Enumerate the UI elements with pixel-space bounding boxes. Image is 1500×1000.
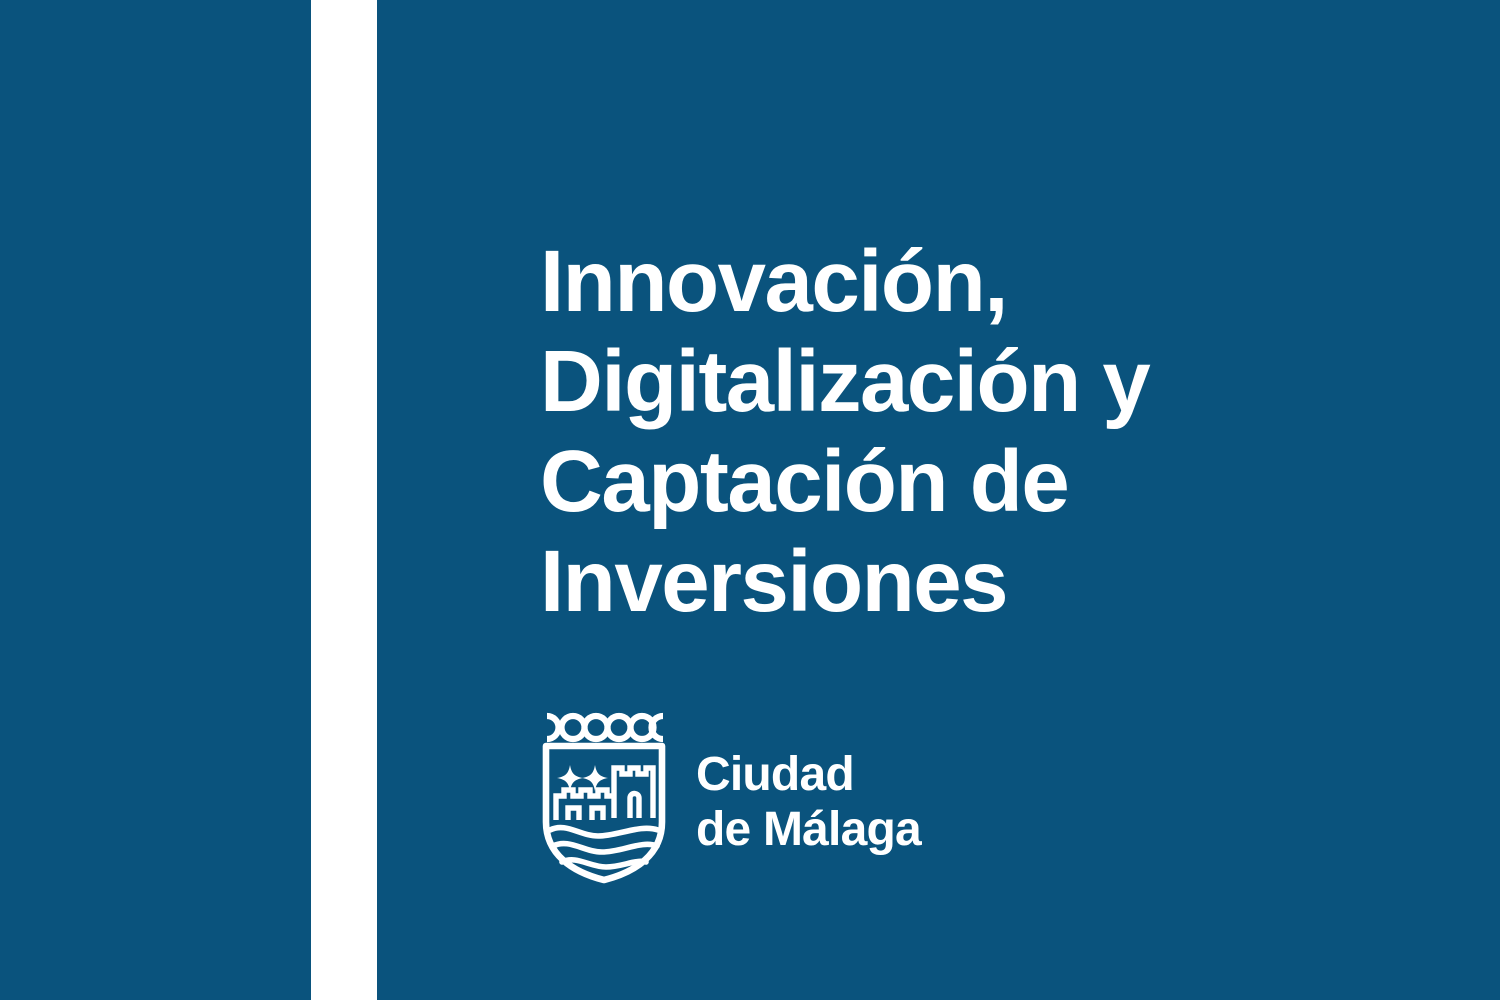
brand-logo-text-line-2: de Málaga [696,802,921,857]
brand-logo-text: Ciudad de Málaga [696,712,921,857]
malaga-city-shield-icon [540,712,668,884]
brand-logo-text-line-1: Ciudad [696,747,921,802]
title-line-4: Inversiones [540,532,1300,632]
page-title: Innovación, Digitalización y Captación d… [540,232,1300,632]
slide-canvas: Innovación, Digitalización y Captación d… [0,0,1500,1000]
title-line-1: Innovación, [540,232,1300,332]
title-line-3: Captación de [540,432,1300,532]
brand-logo-lockup: Ciudad de Málaga [540,712,921,884]
title-line-2: Digitalización y [540,332,1300,432]
left-accent-stripe [311,0,377,1000]
